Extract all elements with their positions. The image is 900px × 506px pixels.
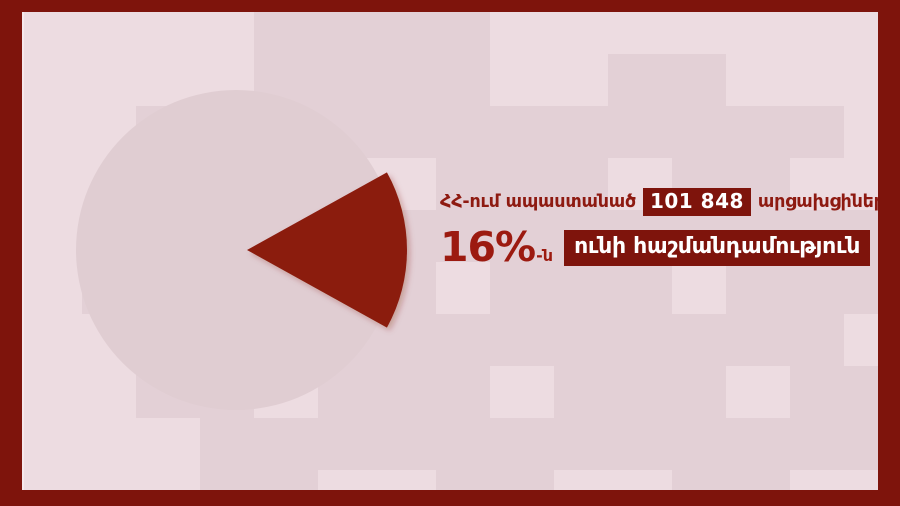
percent-suffix: -ն: [536, 246, 553, 265]
statement-line-2: 16% -ն ունի հաշմանդամություն: [440, 227, 878, 268]
disability-phrase-badge: ունի հաշմանդամություն: [564, 230, 870, 266]
pattern-block: [726, 106, 844, 158]
pattern-block: [490, 262, 608, 366]
statement-line-1: ՀՀ-ում ապաստանած 101 848 արցախցիների: [440, 188, 878, 216]
pattern-block: [672, 418, 790, 490]
infographic-canvas: ՀՀ-ում ապաստանած 101 848 արցախցիների 16%…: [0, 0, 900, 506]
pattern-block: [726, 262, 844, 366]
pattern-block: [554, 366, 672, 470]
statement-trail-text: արցախցիների: [758, 192, 878, 212]
percent-value: 16%: [440, 227, 535, 268]
pattern-block: [608, 54, 726, 158]
pie-chart: [66, 80, 406, 420]
pattern-block: [372, 12, 490, 54]
content-panel: ՀՀ-ում ապաստանած 101 848 արցախցիների 16%…: [22, 12, 878, 490]
percent-group: 16% -ն: [440, 227, 553, 268]
statement-block: ՀՀ-ում ապաստանած 101 848 արցախցիների 16%…: [440, 188, 878, 268]
refugee-count-badge: 101 848: [643, 188, 751, 216]
pattern-block: [790, 366, 878, 470]
statement-lead-text: ՀՀ-ում ապաստանած: [440, 192, 636, 212]
pie-chart-svg: [66, 80, 406, 420]
pattern-block: [436, 418, 554, 490]
pattern-block: [200, 418, 318, 490]
